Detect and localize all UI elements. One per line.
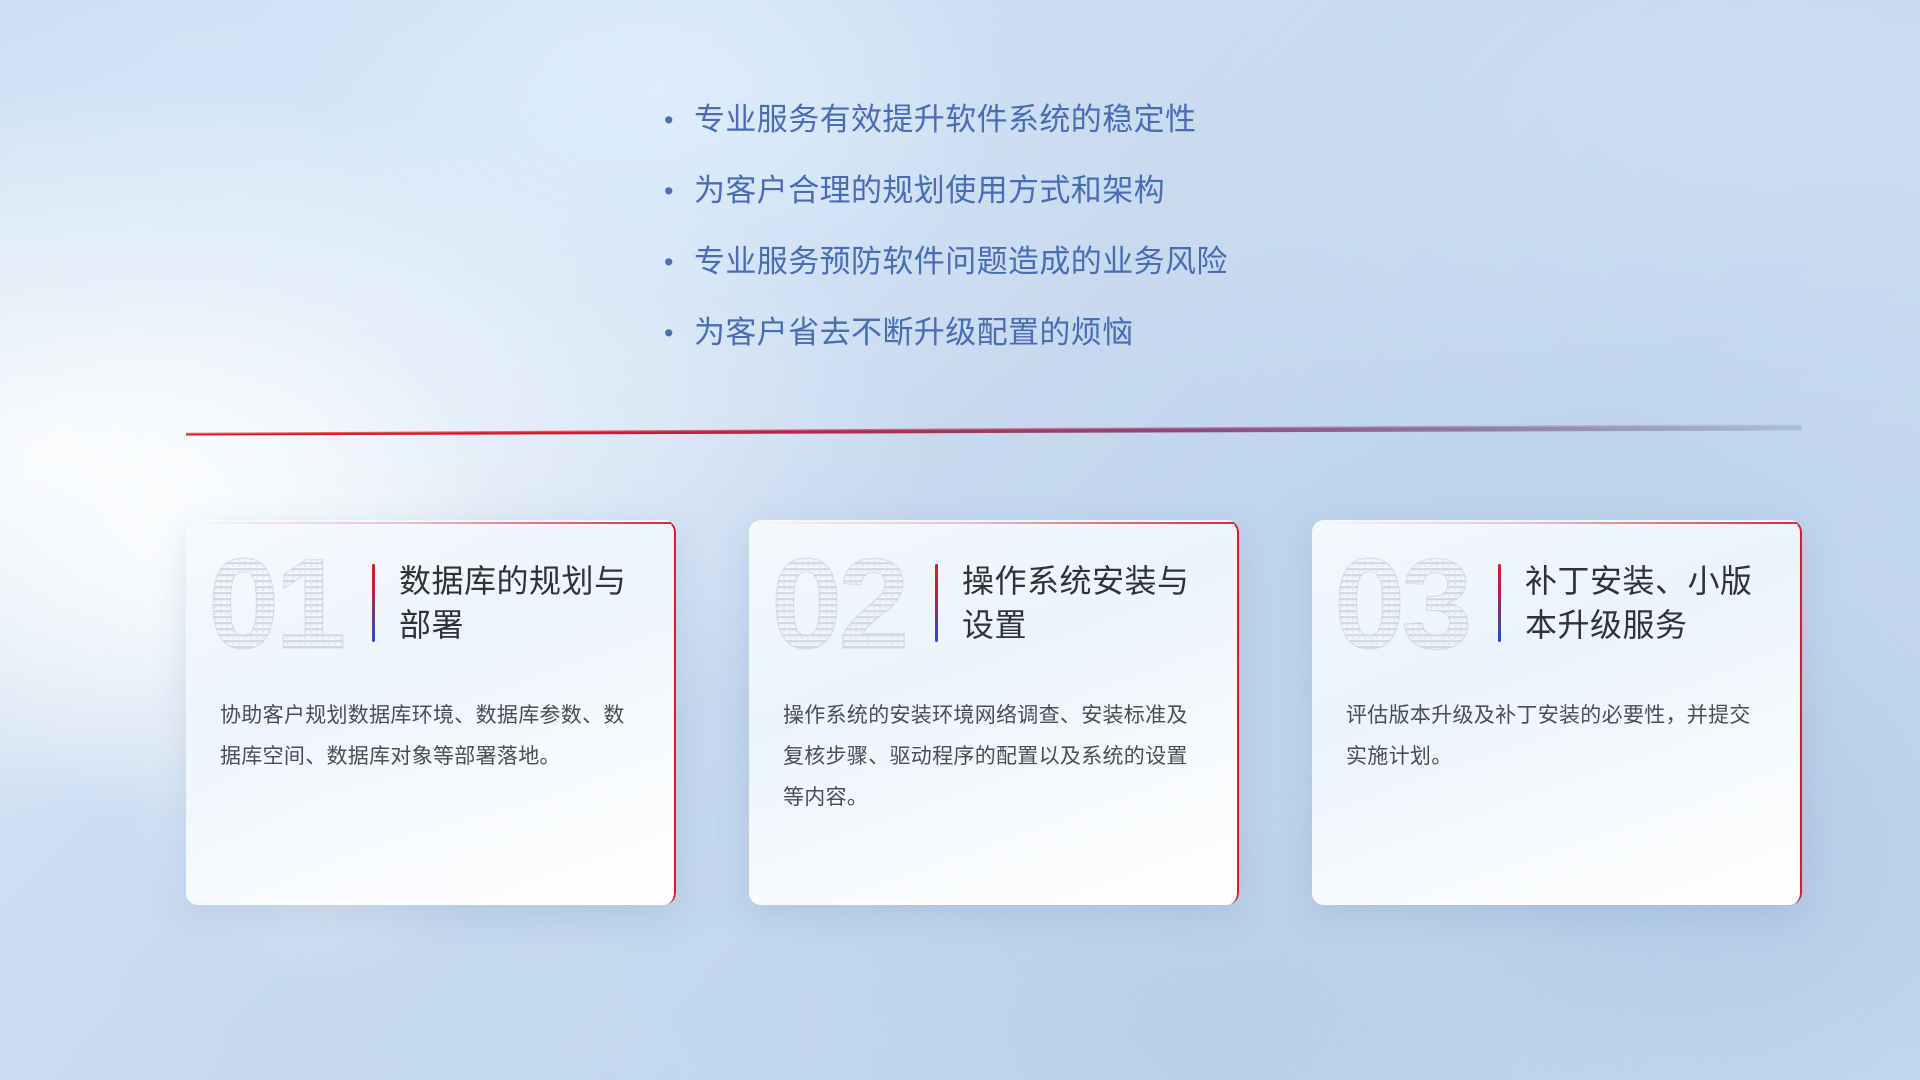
- service-cards: 01 01 数据库的规划与部署 协助客户规划数据库环境、数据库参数、数据库空间、…: [186, 520, 1802, 910]
- card-body-03: 评估版本升级及补丁安装的必要性，并提交实施计划。: [1312, 685, 1802, 777]
- benefit-text-1: 专业服务有效提升软件系统的稳定性: [694, 100, 1196, 140]
- card-accent-rule: [372, 564, 375, 642]
- card-number-01: 01 01: [208, 544, 368, 662]
- section-divider: [186, 418, 1802, 436]
- bullet-dot-icon: •: [660, 171, 694, 211]
- card-accent-rule: [935, 564, 938, 642]
- list-item: • 为客户合理的规划使用方式和架构: [660, 171, 1560, 213]
- card-title-01: 数据库的规划与部署: [399, 559, 649, 647]
- card-title-02: 操作系统安装与设置: [962, 559, 1212, 647]
- service-card-03[interactable]: 03 03 补丁安装、小版本升级服务 评估版本升级及补丁安装的必要性，并提交实施…: [1312, 520, 1802, 905]
- svg-text:03: 03: [1334, 544, 1468, 662]
- service-card-01[interactable]: 01 01 数据库的规划与部署 协助客户规划数据库环境、数据库参数、数据库空间、…: [186, 520, 676, 905]
- svg-text:02: 02: [771, 544, 905, 662]
- card-number-02: 02 02: [771, 544, 931, 662]
- bullet-dot-icon: •: [660, 100, 694, 140]
- card-title-03: 补丁安装、小版本升级服务: [1525, 559, 1775, 647]
- list-item: • 专业服务有效提升软件系统的稳定性: [660, 100, 1560, 142]
- card-accent-rule: [1498, 564, 1501, 642]
- benefit-text-2: 为客户合理的规划使用方式和架构: [694, 171, 1165, 211]
- list-item: • 专业服务预防软件问题造成的业务风险: [660, 242, 1560, 284]
- card-number-03: 03 03: [1334, 544, 1494, 662]
- list-item: • 为客户省去不断升级配置的烦恼: [660, 313, 1560, 355]
- card-body-01: 协助客户规划数据库环境、数据库参数、数据库空间、数据库对象等部署落地。: [186, 685, 676, 777]
- slide-canvas: • 专业服务有效提升软件系统的稳定性 • 为客户合理的规划使用方式和架构 • 专…: [0, 0, 1920, 1080]
- service-card-02[interactable]: 02 02 操作系统安装与设置 操作系统的安装环境网络调查、安装标准及复核步骤、…: [749, 520, 1239, 905]
- svg-text:01: 01: [208, 544, 343, 662]
- benefit-text-4: 为客户省去不断升级配置的烦恼: [694, 313, 1134, 353]
- bullet-dot-icon: •: [660, 313, 694, 353]
- card-header: 01 01 数据库的规划与部署: [186, 520, 676, 685]
- card-header: 03 03 补丁安装、小版本升级服务: [1312, 520, 1802, 685]
- card-body-02: 操作系统的安装环境网络调查、安装标准及复核步骤、驱动程序的配置以及系统的设置等内…: [749, 685, 1239, 818]
- benefit-text-3: 专业服务预防软件问题造成的业务风险: [694, 242, 1228, 282]
- bullet-dot-icon: •: [660, 242, 694, 282]
- benefits-list: • 专业服务有效提升软件系统的稳定性 • 为客户合理的规划使用方式和架构 • 专…: [660, 100, 1560, 384]
- card-header: 02 02 操作系统安装与设置: [749, 520, 1239, 685]
